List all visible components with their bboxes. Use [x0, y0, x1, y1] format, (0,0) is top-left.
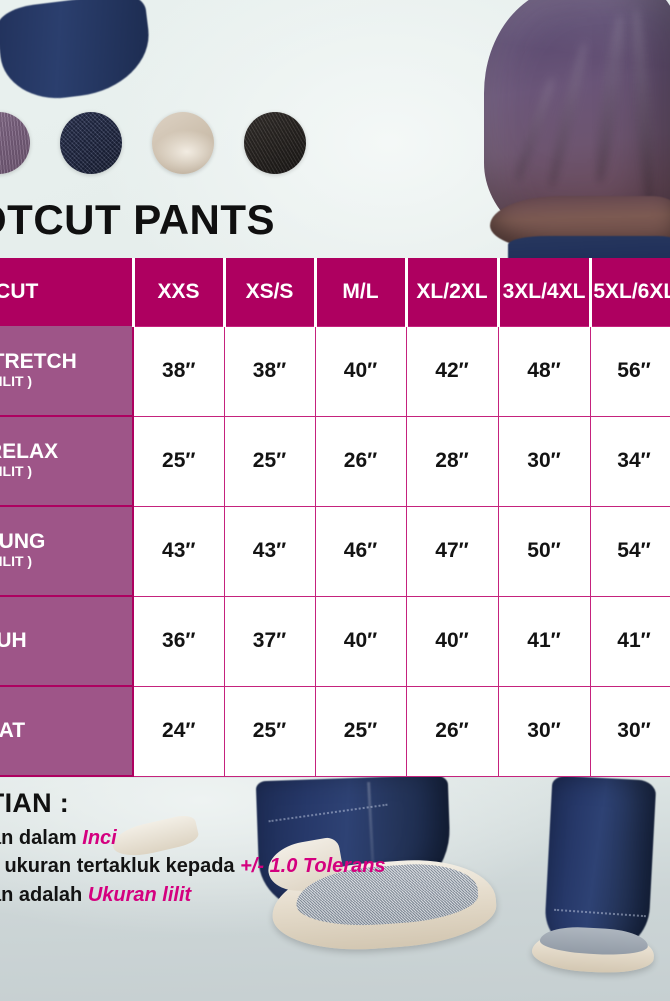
cell-value: 41″	[590, 596, 670, 686]
swatch-navy	[60, 112, 122, 174]
swatch-cream	[152, 112, 214, 174]
column-header-3xl-4xl: 3XL/4XL	[498, 258, 590, 326]
cell-value: 40″	[406, 596, 498, 686]
cell-value: 54″	[590, 506, 670, 596]
cell-value: 26″	[406, 686, 498, 776]
note-accent: Inci	[82, 827, 116, 849]
cell-value: 25″	[133, 416, 224, 506]
note-line: iap ukuran tertakluk kepada +/- 1.0 Tole…	[0, 852, 530, 880]
cell-value: 37″	[224, 596, 315, 686]
size-chart-table: OTCUT XXS XS/S M/L XL/2XL 3XL/4XL 5XL/6X…	[0, 258, 670, 777]
row-label-main: AWAT	[0, 720, 132, 742]
column-header-category: OTCUT	[0, 258, 133, 326]
note-text: iap ukuran tertakluk kepada	[0, 855, 240, 877]
note-line: uran dalam Inci	[0, 824, 530, 852]
row-label-main: GGUNG	[0, 531, 132, 553]
note-accent: Ukuran lilit	[88, 884, 191, 906]
column-header-xs-s: XS/S	[224, 258, 315, 326]
note-accent: +/- 1.0 Tolerans	[240, 855, 385, 877]
cell-value: 43″	[133, 506, 224, 596]
cell-value: 48″	[498, 326, 590, 416]
table-row: ABUH 36″ 37″ 40″ 40″ 41″ 41″	[0, 596, 670, 686]
fabric-swatch-row	[0, 112, 306, 174]
table-row: GGUNG UR LILIT ) 43″ 43″ 46″ 47″ 50″ 54″	[0, 506, 670, 596]
cell-value: 30″	[498, 416, 590, 506]
cell-value: 38″	[224, 326, 315, 416]
row-label-sub: UR LILIT )	[0, 463, 132, 481]
row-label-relax: H RELAX UR LILIT )	[0, 416, 133, 506]
cell-value: 30″	[590, 686, 670, 776]
table-row: I STRETCH UR LILIT ) 38″ 38″ 40″ 42″ 48″…	[0, 326, 670, 416]
cell-value: 38″	[133, 326, 224, 416]
model-leg-back	[544, 775, 657, 952]
cell-value: 42″	[406, 326, 498, 416]
cell-value: 25″	[224, 686, 315, 776]
notes-title: ATIAN :	[0, 788, 530, 819]
cell-value: 40″	[315, 596, 406, 686]
cell-value: 25″	[315, 686, 406, 776]
cell-value: 43″	[224, 506, 315, 596]
swatch-purple	[0, 112, 30, 174]
page-title: OTCUT PANTS	[0, 196, 275, 244]
table-row: AWAT 24″ 25″ 25″ 26″ 30″ 30″	[0, 686, 670, 776]
table-header-row: OTCUT XXS XS/S M/L XL/2XL 3XL/4XL 5XL/6X…	[0, 258, 670, 326]
cell-value: 30″	[498, 686, 590, 776]
note-line: uran adalah Ukuran lilit	[0, 881, 530, 909]
swatch-dark	[244, 112, 306, 174]
column-header-xl-2xl: XL/2XL	[406, 258, 498, 326]
cell-value: 46″	[315, 506, 406, 596]
column-header-5xl-6xl: 5XL/6XL	[590, 258, 670, 326]
cell-value: 47″	[406, 506, 498, 596]
row-label-sub: UR LILIT )	[0, 373, 132, 391]
column-header-m-l: M/L	[315, 258, 406, 326]
cell-value: 50″	[498, 506, 590, 596]
table-row: H RELAX UR LILIT ) 25″ 25″ 26″ 28″ 30″ 3…	[0, 416, 670, 506]
cell-value: 36″	[133, 596, 224, 686]
cell-value: 25″	[224, 416, 315, 506]
row-label-main: I STRETCH	[0, 351, 132, 373]
cell-value: 34″	[590, 416, 670, 506]
row-label-sub: UR LILIT )	[0, 553, 132, 571]
row-label-main: ABUH	[0, 630, 132, 652]
column-header-xxs: XXS	[133, 258, 224, 326]
row-label-punggung: GGUNG UR LILIT )	[0, 506, 133, 596]
cell-value: 24″	[133, 686, 224, 776]
notes-section: ATIAN : uran dalam Inci iap ukuran terta…	[0, 788, 530, 909]
cell-value: 26″	[315, 416, 406, 506]
row-label-main: H RELAX	[0, 441, 132, 463]
row-label-labuh: ABUH	[0, 596, 133, 686]
row-label-rawat: AWAT	[0, 686, 133, 776]
row-label-stretch: I STRETCH UR LILIT )	[0, 326, 133, 416]
cell-value: 28″	[406, 416, 498, 506]
note-text: uran dalam	[0, 827, 82, 849]
cell-value: 56″	[590, 326, 670, 416]
cell-value: 41″	[498, 596, 590, 686]
cell-value: 40″	[315, 326, 406, 416]
note-text: uran adalah	[0, 884, 88, 906]
